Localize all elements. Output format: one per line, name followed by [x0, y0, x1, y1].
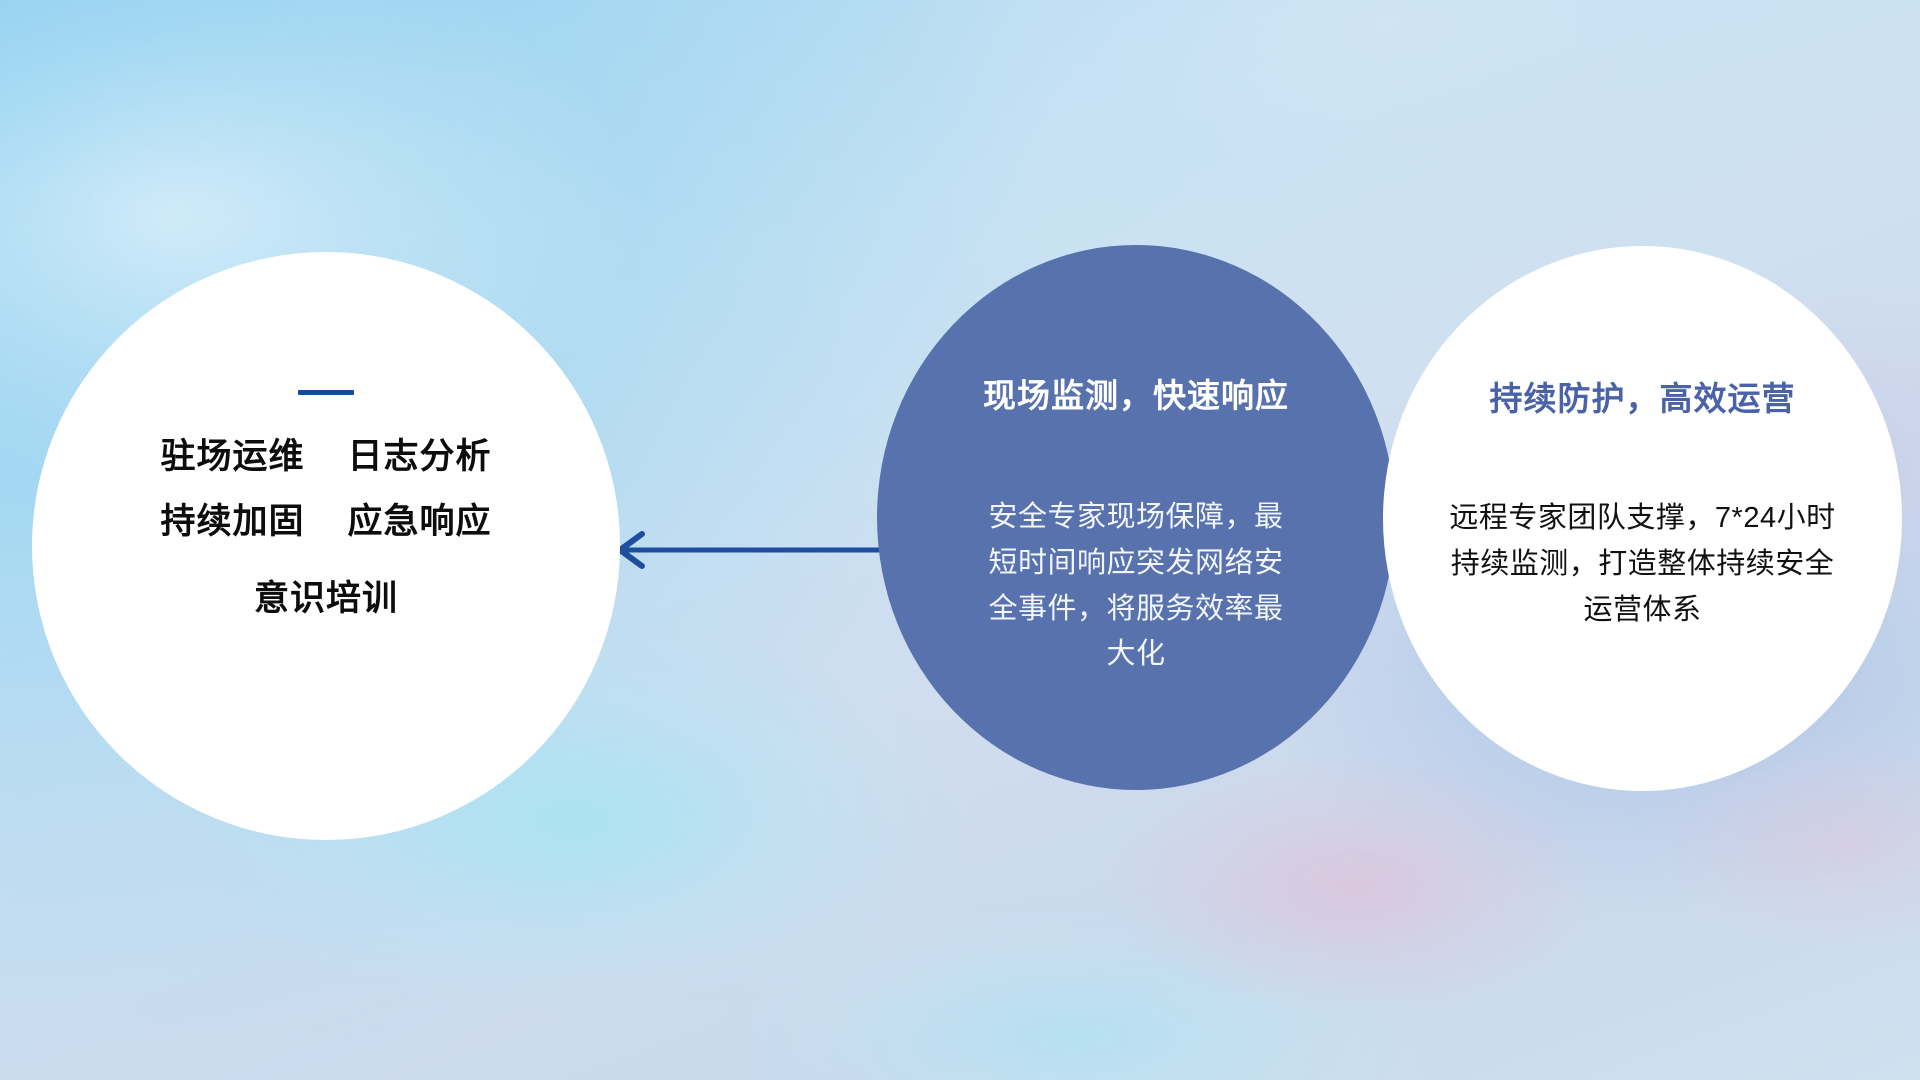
- continuous-protection-circle[interactable]: 持续防护，高效运营 远程专家团队支撑，7*24小时持续监测，打造整体持续安全运营…: [1383, 246, 1902, 791]
- continuous-protection-body: 远程专家团队支撑，7*24小时持续监测，打造整体持续安全运营体系: [1443, 496, 1843, 633]
- driver-capabilities-circle[interactable]: 驻场运维 日志分析 持续加固 应急响应 意识培训: [32, 252, 620, 840]
- left-circle-content: 驻场运维 日志分析 持续加固 应急响应 意识培训: [32, 252, 620, 840]
- slide-canvas: 驻场运维 日志分析 持续加固 应急响应 意识培训 现场监测，快速响应 安全专家现…: [0, 0, 1920, 1080]
- right-circle-content: 持续防护，高效运营 远程专家团队支撑，7*24小时持续监测，打造整体持续安全运营…: [1383, 246, 1902, 791]
- onsite-monitoring-title: 现场监测，快速响应: [983, 369, 1289, 417]
- onsite-monitoring-circle[interactable]: 现场监测，快速响应 安全专家现场保障，最短时间响应突发网络安全事件，将服务效率最…: [877, 245, 1395, 790]
- capability-line-1: 驻场运维 日志分析: [161, 439, 492, 475]
- capability-line-2: 持续加固 应急响应: [161, 504, 492, 540]
- accent-dash-divider: [298, 390, 354, 395]
- continuous-protection-title: 持续防护，高效运营: [1490, 372, 1796, 420]
- flow-arrow-left-icon: [600, 520, 900, 580]
- capability-line-3: 意识培训: [254, 581, 398, 617]
- onsite-monitoring-body: 安全专家现场保障，最短时间响应突发网络安全事件，将服务效率最大化: [977, 495, 1295, 678]
- mid-circle-content: 现场监测，快速响应 安全专家现场保障，最短时间响应突发网络安全事件，将服务效率最…: [877, 245, 1395, 790]
